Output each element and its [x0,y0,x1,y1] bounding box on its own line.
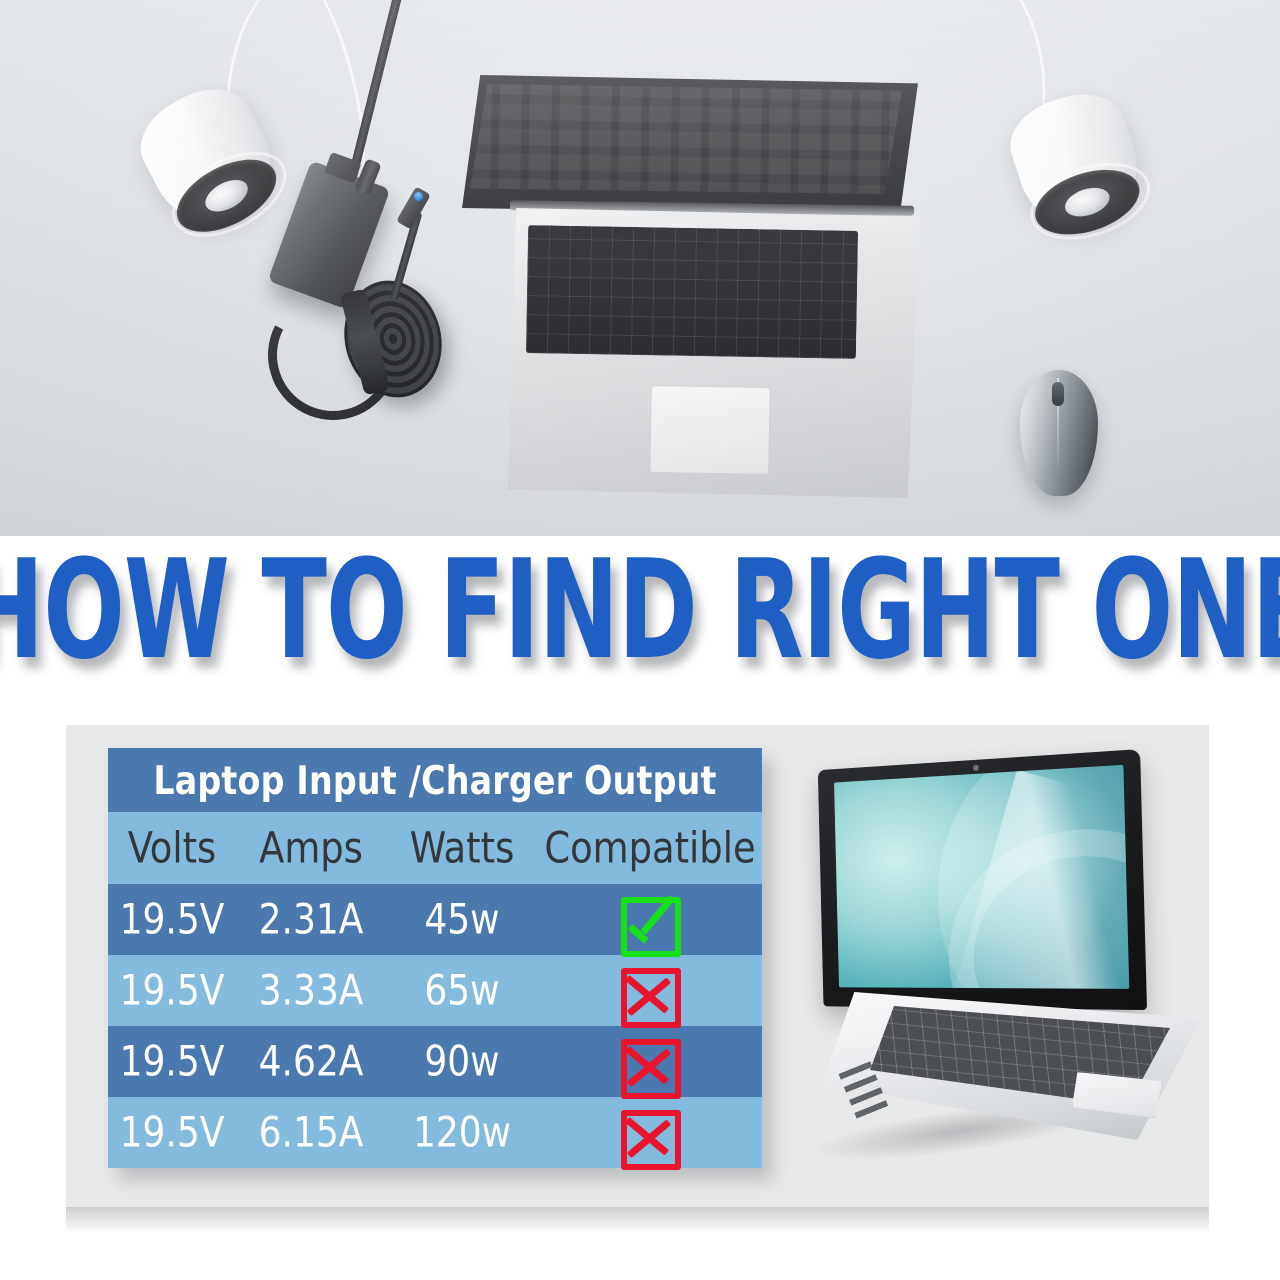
cell-watts: 120w [386,1109,538,1157]
cell-amps: 2.31A [236,896,386,944]
photo-laptop-screen-reflection [470,84,902,194]
laptop-illustration-lid [818,749,1147,1010]
cross-icon [621,1104,679,1162]
headline-banner: HOW TO FIND RIGHT ONE [0,548,1280,673]
hero-product-photo [0,0,1280,536]
column-header-volts: Volts [108,823,236,873]
cell-volts: 19.5V [108,967,236,1015]
table-title: Laptop Input /Charger Output [153,757,716,803]
photo-laptop-keyboard [526,225,858,359]
mouse-scroll-wheel-icon [1052,382,1064,406]
table-row: 19.5V 2.31A 45w [108,884,762,955]
cell-volts: 19.5V [108,1109,236,1157]
webcam-icon [973,765,979,771]
laptop-illustration-screen [834,765,1129,989]
column-header-watts: Watts [386,823,538,873]
cross-icon [621,962,679,1020]
cell-amps: 4.62A [236,1038,386,1086]
cross-icon [621,1033,679,1091]
cell-amps: 6.15A [236,1109,386,1157]
cell-amps: 3.33A [236,967,386,1015]
cell-volts: 19.5V [108,896,236,944]
table-row: 19.5V 4.62A 90w [108,1026,762,1097]
cell-compatible [538,1104,762,1162]
adapter-dc-connector [396,186,431,229]
cell-watts: 90w [386,1038,538,1086]
table-header-row: Volts Amps Watts Compatible [108,812,762,884]
cell-volts: 19.5V [108,1038,236,1086]
cell-compatible [538,1033,762,1091]
column-header-compatible: Compatible [538,823,762,873]
cell-compatible [538,891,762,949]
page-title: HOW TO FIND RIGHT ONE [0,542,1280,679]
check-icon [621,891,679,949]
column-header-amps: Amps [236,823,386,873]
cell-watts: 65w [386,967,538,1015]
cell-compatible [538,962,762,1020]
cell-watts: 45w [386,896,538,944]
photo-laptop-trackpad [649,385,771,475]
panel-shadow [66,1207,1209,1233]
table-row: 19.5V 6.15A 120w [108,1097,762,1168]
laptop-illustration [800,760,1240,1150]
compatibility-table: Laptop Input /Charger Output Volts Amps … [108,748,762,1168]
table-row: 19.5V 3.33A 65w [108,955,762,1026]
table-title-row: Laptop Input /Charger Output [108,748,762,812]
